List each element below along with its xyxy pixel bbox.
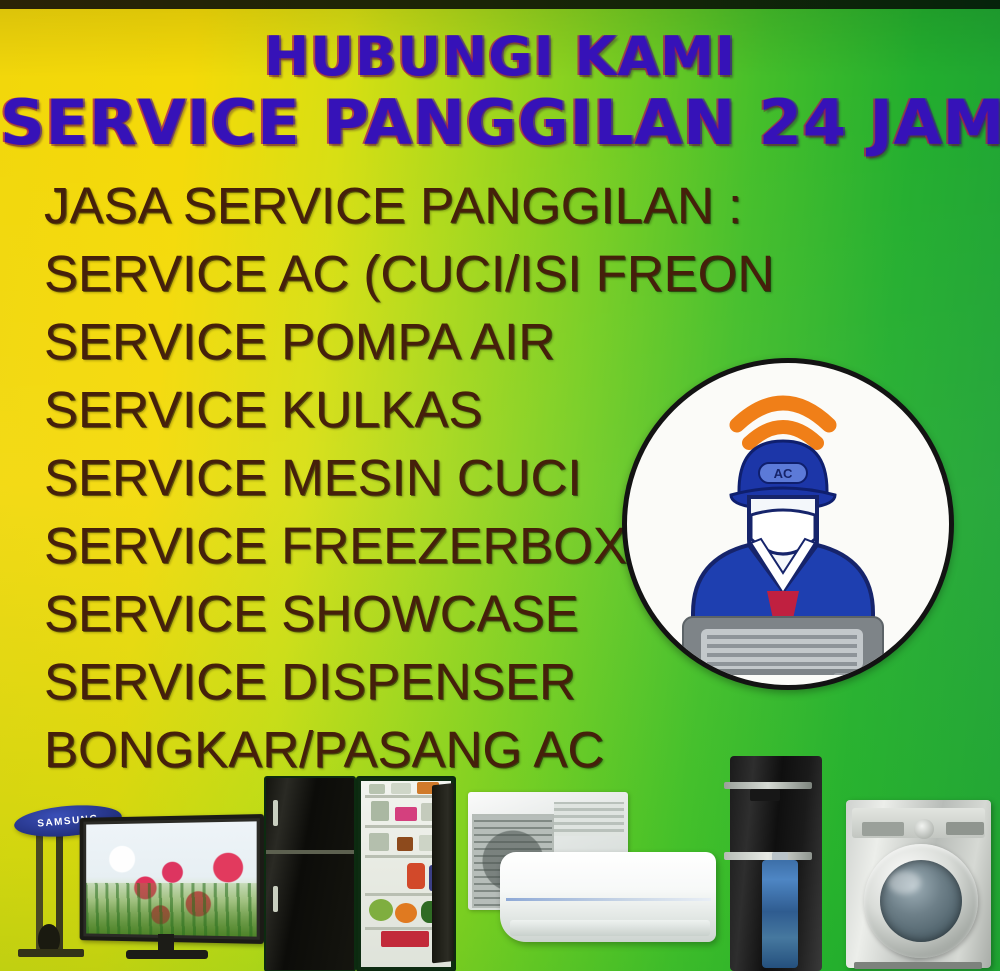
service-list-item: BONGKAR/PASANG AC [44, 716, 694, 784]
headline-line-2-container: SERVICE PANGGILAN 24 JAM [0, 92, 1000, 154]
fridge-item [369, 899, 393, 921]
headline-line-1: HUBUNGI KAMI [264, 25, 736, 88]
dispenser-taps [750, 789, 780, 801]
service-list-item: SERVICE DISPENSER [44, 648, 694, 716]
fridge-handle-top [273, 800, 278, 826]
fridge-item [381, 931, 429, 947]
washer-door-glass [880, 860, 962, 942]
fridge-shelf [365, 927, 435, 930]
split-air-conditioner [462, 786, 724, 971]
dispenser-water-bottle [762, 860, 798, 968]
cap-badge-text: AC [774, 466, 793, 481]
top-edge-strip [0, 0, 1000, 9]
washer-base [854, 962, 982, 969]
fridge-item [395, 903, 417, 923]
technician-illustration: AC [627, 363, 939, 675]
service-list-item: SERVICE FREEZERBOX [44, 512, 694, 580]
washer-door [864, 844, 978, 958]
samsung-television: SAMSUNG [8, 806, 258, 971]
ac-technician-logo: AC [622, 358, 954, 690]
dispenser-mid-shelf [724, 852, 812, 860]
fridge-item [397, 837, 413, 851]
washer-detergent-drawer [862, 822, 904, 836]
ac-indoor-unit [500, 852, 716, 942]
ac-unit-icon [683, 617, 883, 675]
services-list: JASA SERVICE PANGGILAN : SERVICE AC (CUC… [44, 172, 694, 784]
service-advertisement-poster: HUBUNGI KAMI SERVICE PANGGILAN 24 JAM JA… [0, 0, 1000, 971]
fridge-item [407, 863, 425, 889]
fridge-item [369, 784, 385, 794]
fridge-shelf [365, 825, 435, 828]
service-list-item: SERVICE POMPA AIR [44, 308, 694, 376]
tv-screen-picture [86, 821, 256, 936]
refrigerator-open-with-food [356, 776, 456, 971]
fridge-shelf [365, 795, 435, 798]
ac-indoor-louver [510, 920, 710, 936]
refrigerator-group [264, 776, 460, 971]
washer-display [946, 822, 984, 835]
fridge-open-door [432, 783, 456, 964]
washer-program-dial [914, 819, 934, 839]
tv-stand-base [126, 950, 208, 959]
service-list-item: SERVICE SHOWCASE [44, 580, 694, 648]
fridge-door-split [266, 850, 354, 854]
service-list-item: JASA SERVICE PANGGILAN : [44, 172, 694, 240]
sign-foot [18, 949, 84, 957]
ac-indoor-accent-stripe [506, 898, 711, 901]
fridge-item [391, 783, 411, 794]
tv-screen [80, 814, 264, 944]
service-list-item: SERVICE AC (CUCI/ISI FREON [44, 240, 694, 308]
fridge-shelf [365, 855, 435, 858]
dispenser-top-shelf [724, 782, 812, 789]
fridge-shelf [365, 893, 435, 896]
service-list-item: SERVICE MESIN CUCI [44, 444, 694, 512]
front-load-washing-machine [846, 800, 991, 971]
fridge-item [371, 801, 389, 821]
water-dispenser [722, 756, 834, 971]
service-list-item: SERVICE KULKAS [44, 376, 694, 444]
black-refrigerator-closed [264, 776, 356, 971]
ac-top-vents [554, 802, 624, 836]
headline-line-1-container: HUBUNGI KAMI [0, 30, 1000, 84]
washer-body [846, 800, 991, 968]
fridge-item [395, 807, 417, 821]
washer-control-panel [852, 808, 985, 838]
headline-line-2: SERVICE PANGGILAN 24 JAM [0, 86, 1000, 159]
fridge-item [369, 833, 389, 851]
fridge-handle-bottom [273, 886, 278, 912]
